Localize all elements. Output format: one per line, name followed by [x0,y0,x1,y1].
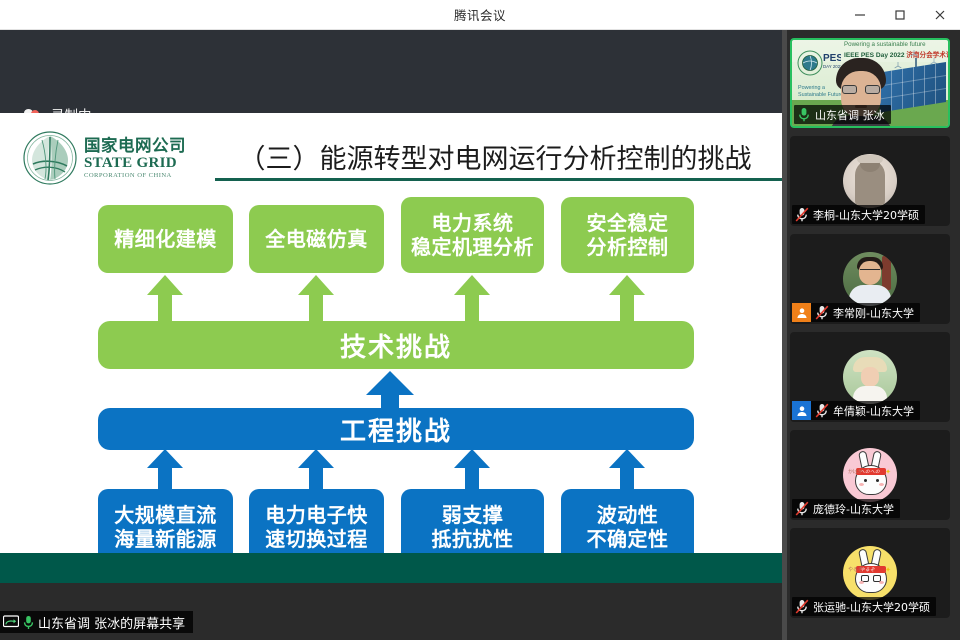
mic-off-icon [795,501,809,516]
screen-share-icon [3,615,19,629]
window-controls [840,0,960,30]
green-box-2-line1: 全电磁仿真 [265,227,368,251]
participant-tile-3[interactable]: 李常刚-山东大学 [790,234,950,324]
cohost-badge-icon [792,401,811,420]
maximize-button[interactable] [880,0,920,30]
blue-box-1-line2: 海量新能源 [114,527,217,551]
participant-tile-4[interactable]: 牟倩颖-山东大学 [790,332,950,422]
green-box-3-line1: 电力系统 [411,211,534,235]
mic-off-icon [795,599,809,614]
participant-name-2: 李桐-山东大学20学硕 [813,207,919,223]
participant-name-4: 牟倩颖-山东大学 [833,403,914,419]
green-box-1-line1: 精细化建模 [114,227,217,251]
mic-off-icon [795,207,809,222]
participant-tile-active[interactable]: Powering a sustainable future IEEE PES D… [790,38,950,128]
participant-rail[interactable]: Powering a sustainable future IEEE PES D… [782,30,960,640]
blue-box-4-line2: 不确定性 [587,527,669,551]
minimize-button[interactable] [840,0,880,30]
participant-name-6: 张运驰-山东大学20学硕 [813,599,930,615]
participant-label: 山东省调 张冰 [794,105,891,124]
engineering-challenge-bar: 工程挑战 [98,408,694,450]
green-box-1: 精细化建模 [98,205,233,273]
pes-header-line1: Powering a sustainable future [844,41,926,48]
mic-off-icon [815,305,829,320]
screen-share-label: 山东省调 张冰的屏幕共享 [38,613,185,632]
mic-on-icon [797,107,811,122]
tech-challenge-bar: 技术挑战 [98,321,694,369]
participant-label-2: 李桐-山东大学20学硕 [792,205,925,224]
blue-box-2-line1: 电力电子快 [265,503,368,527]
blue-box-3-line1: 弱支撑 [432,503,514,527]
green-box-2: 全电磁仿真 [249,205,384,273]
participant-label-3: 李常刚-山东大学 [792,303,920,322]
participant-label-4: 牟倩颖-山东大学 [792,401,920,420]
blue-box-3-line2: 抵抗扰性 [432,527,514,551]
participant-label-6: 张运驰-山东大学20学硕 [792,597,936,616]
mic-on-icon [22,615,35,630]
green-box-4-line1: 安全稳定 [587,211,669,235]
slide-footer-band [0,553,782,583]
tech-challenge-label: 技术挑战 [340,327,452,364]
green-box-3: 电力系统 稳定机理分析 [401,197,544,273]
participant-name: 山东省调 张冰 [815,107,885,123]
challenge-diagram: 精细化建模 全电磁仿真 电力系统 稳定机理分析 安全稳定 [0,113,782,583]
rail-divider [782,30,787,640]
blue-box-4-line1: 波动性 [587,503,669,527]
participant-label-5: 庞德玲-山东大学 [792,499,900,518]
host-badge-icon [792,303,811,322]
green-box-3-line2: 稳定机理分析 [411,235,534,259]
window-title: 腾讯会议 [454,5,506,24]
engineering-challenge-label: 工程挑战 [340,411,452,448]
green-box-4-line2: 分析控制 [587,235,669,259]
recording-strip [0,30,782,113]
close-button[interactable] [920,0,960,30]
green-box-4: 安全稳定 分析控制 [561,197,694,273]
mic-off-icon [815,403,829,418]
participant-tile-5[interactable]: へのへの かはか ✦ 庞德玲-山东大学 [790,430,950,520]
tencent-meeting-window: 腾讯会议 录制中 [0,0,960,640]
participant-name-5: 庞德玲-山东大学 [813,501,894,517]
shared-screen-stage[interactable]: 录制中 [0,30,782,640]
blue-box-2-line2: 速切换过程 [265,527,368,551]
participant-tile-6[interactable]: やるぞ やるぞ ✦ 张运驰-山东大学20学硕 [790,528,950,618]
window-titlebar: 腾讯会议 [0,0,960,30]
presentation-slide: 国家电网公司 STATE GRID CORPORATION OF CHINA （… [0,113,782,583]
blue-box-1-line1: 大规模直流 [114,503,217,527]
participant-name-3: 李常刚-山东大学 [833,305,914,321]
screen-share-footer: 山东省调 张冰的屏幕共享 [0,611,193,633]
participant-tile-2[interactable]: 李桐-山东大学20学硕 [790,136,950,226]
